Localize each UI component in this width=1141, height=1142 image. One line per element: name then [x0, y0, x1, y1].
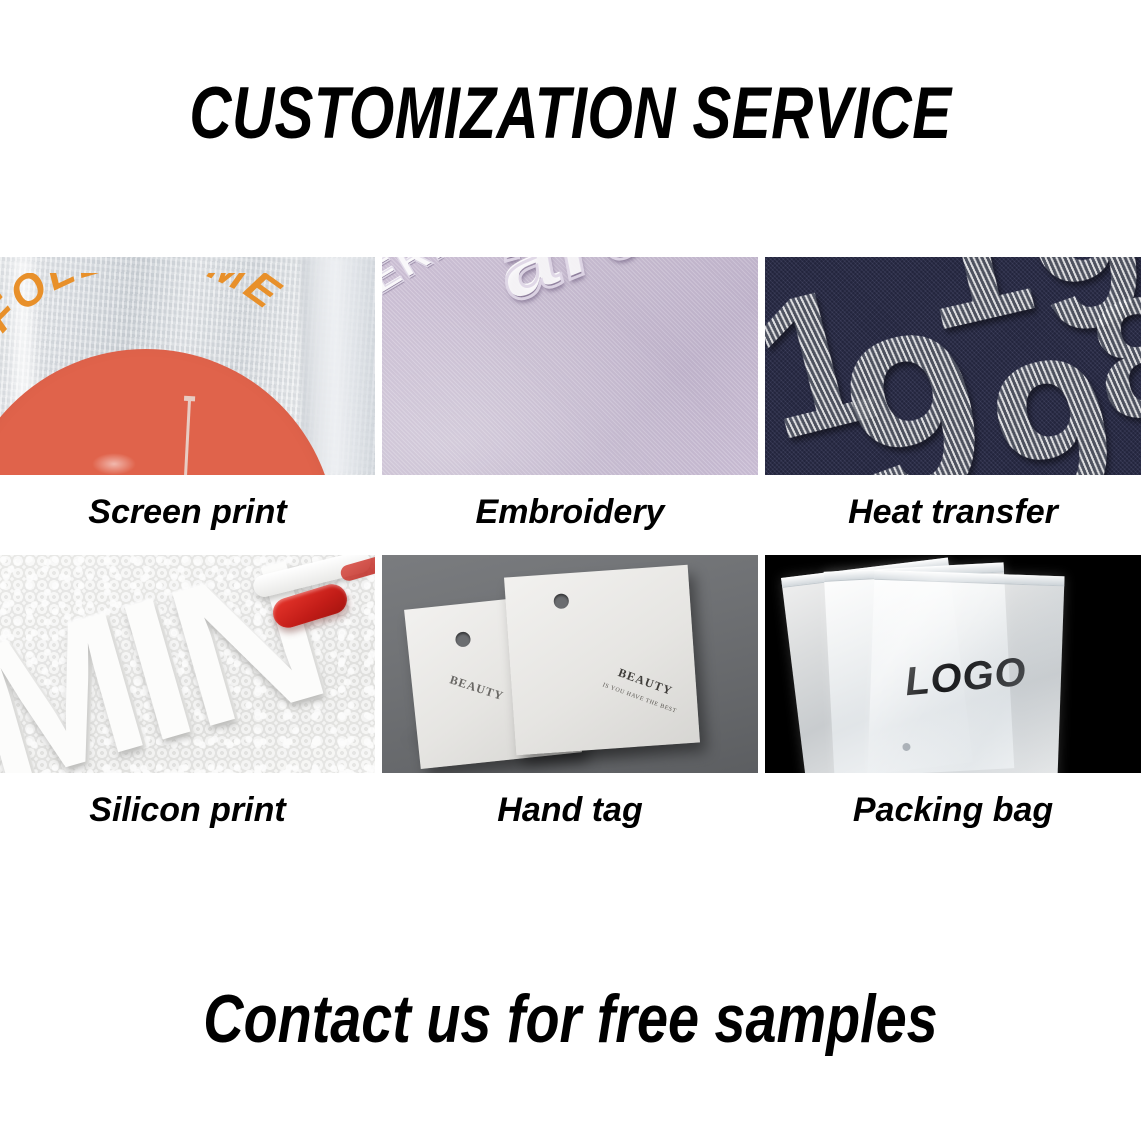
- service-label-heat-transfer: Heat transfer: [765, 475, 1141, 555]
- hand-tag-image[interactable]: BEAUTY IS YOU HAVE THE BEST BEAUTY: [382, 555, 758, 773]
- footer-call-to-action: Contact us for free samples: [103, 980, 1039, 1058]
- service-card-embroidery[interactable]: TERNATIONAL ardi Embroidery: [382, 257, 758, 555]
- service-card-silicon-print[interactable]: MIN Silicon print: [0, 555, 375, 853]
- tag-hole: [553, 593, 569, 609]
- service-label-hand-tag: Hand tag: [382, 773, 758, 853]
- service-label-embroidery: Embroidery: [382, 475, 758, 555]
- poly-bag: LOGO: [867, 570, 1064, 773]
- arc-text-graphic: N'T FOLLOW ME: [0, 273, 345, 473]
- service-card-screen-print[interactable]: N'T FOLLOW ME Screen print: [0, 257, 375, 555]
- page-title: CUSTOMIZATION SERVICE: [114, 72, 1027, 155]
- service-grid: N'T FOLLOW ME Screen print TERNATIONAL a…: [0, 257, 1141, 853]
- silicon-print-image[interactable]: MIN: [0, 555, 375, 773]
- fabric-sheen: [382, 257, 758, 475]
- svg-text:N'T FOLLOW ME: N'T FOLLOW ME: [0, 273, 291, 421]
- packing-bag-image[interactable]: LOGO: [765, 555, 1141, 773]
- service-card-packing-bag[interactable]: LOGO Packing bag: [765, 555, 1141, 853]
- bag-sheen: [867, 570, 1064, 773]
- heat-transfer-image[interactable]: 1 9 8 1 9 9: [765, 257, 1141, 475]
- tag-hole: [455, 631, 471, 647]
- tag-brand-name: BEAUTY: [606, 662, 685, 703]
- print-highlight: [92, 453, 136, 475]
- service-card-heat-transfer[interactable]: 1 9 8 1 9 9 Heat transfer: [765, 257, 1141, 555]
- service-label-packing-bag: Packing bag: [765, 773, 1141, 853]
- service-card-hand-tag[interactable]: BEAUTY IS YOU HAVE THE BEST BEAUTY Hand …: [382, 555, 758, 853]
- screen-print-image[interactable]: N'T FOLLOW ME: [0, 257, 375, 475]
- tag-brand-block: BEAUTY IS YOU HAVE THE BEST: [602, 662, 685, 715]
- hang-tag-back: BEAUTY IS YOU HAVE THE BEST: [504, 565, 700, 755]
- customization-service-poster: CUSTOMIZATION SERVICE N'T FOLLOW ME: [0, 0, 1141, 1142]
- tag-back-text: BEAUTY: [448, 672, 506, 704]
- embroidery-image[interactable]: TERNATIONAL ardi: [382, 257, 758, 475]
- service-label-silicon-print: Silicon print: [0, 773, 375, 853]
- service-label-screen-print: Screen print: [0, 475, 375, 555]
